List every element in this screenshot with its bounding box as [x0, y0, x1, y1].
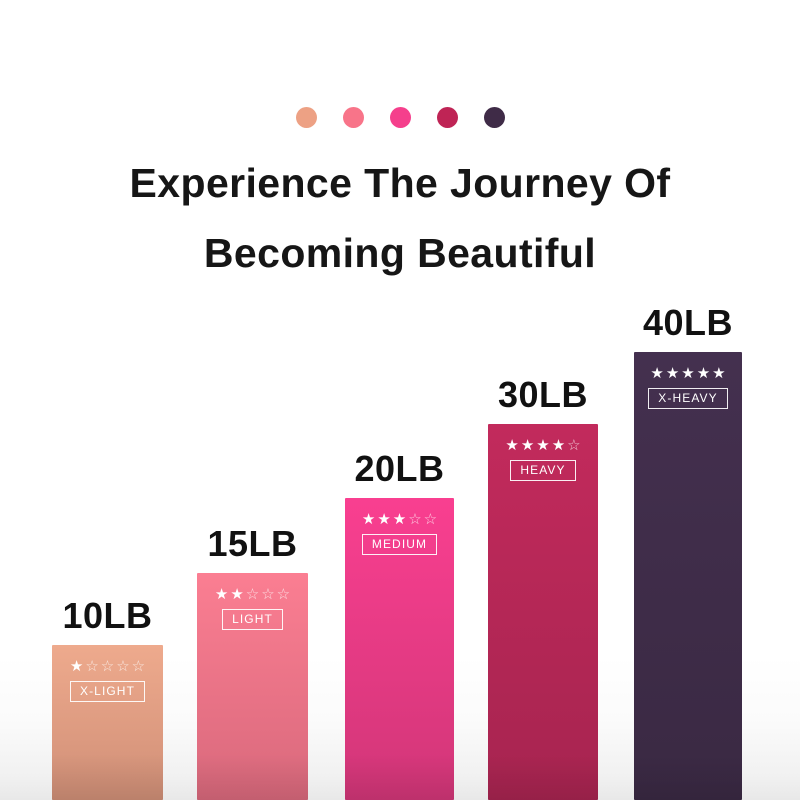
star-filled-icon: ★: [697, 366, 710, 381]
star-rating: ★★★★☆: [505, 438, 580, 453]
star-empty-icon: ☆: [277, 587, 290, 602]
tier-label: LIGHT: [222, 609, 283, 630]
star-empty-icon: ☆: [132, 659, 145, 674]
star-empty-icon: ☆: [408, 512, 421, 527]
bar-value-label: 15LB: [207, 523, 297, 565]
star-filled-icon: ★: [712, 366, 725, 381]
star-filled-icon: ★: [215, 587, 228, 602]
bar-group-medium: 20LB★★★☆☆MEDIUM: [345, 498, 454, 800]
product-infographic-poster: Experience The Journey Of Becoming Beaut…: [0, 0, 800, 800]
star-filled-icon: ★: [681, 366, 694, 381]
bar-light[interactable]: ★★☆☆☆LIGHT: [197, 573, 308, 800]
bar-x-light[interactable]: ★☆☆☆☆X-LIGHT: [52, 645, 163, 800]
star-empty-icon: ☆: [261, 587, 274, 602]
bar-badge: ★★★☆☆MEDIUM: [345, 512, 454, 555]
star-filled-icon: ★: [505, 438, 518, 453]
star-rating: ★★★★★: [650, 366, 725, 381]
bar-badge: ★★☆☆☆LIGHT: [197, 587, 308, 630]
star-empty-icon: ☆: [567, 438, 580, 453]
bar-value-label: 20LB: [354, 448, 444, 490]
star-filled-icon: ★: [650, 366, 663, 381]
bar-badge: ★★★★★X-HEAVY: [634, 366, 742, 409]
tier-label: MEDIUM: [362, 534, 437, 555]
star-filled-icon: ★: [666, 366, 679, 381]
bar-group-x-light: 10LB★☆☆☆☆X-LIGHT: [52, 645, 163, 800]
star-filled-icon: ★: [377, 512, 390, 527]
star-empty-icon: ☆: [116, 659, 129, 674]
star-empty-icon: ☆: [85, 659, 98, 674]
star-filled-icon: ★: [393, 512, 406, 527]
star-empty-icon: ☆: [101, 659, 114, 674]
bar-value-label: 40LB: [643, 302, 733, 344]
bar-value-label: 30LB: [498, 374, 588, 416]
bar-value-label: 10LB: [62, 595, 152, 637]
star-rating: ★★★☆☆: [362, 512, 437, 527]
star-filled-icon: ★: [230, 587, 243, 602]
tier-label: HEAVY: [510, 460, 575, 481]
bar-group-heavy: 30LB★★★★☆HEAVY: [488, 424, 598, 800]
star-filled-icon: ★: [536, 438, 549, 453]
bar-group-x-heavy: 40LB★★★★★X-HEAVY: [634, 352, 742, 800]
bar-x-heavy[interactable]: ★★★★★X-HEAVY: [634, 352, 742, 800]
tier-label: X-LIGHT: [70, 681, 145, 702]
star-filled-icon: ★: [362, 512, 375, 527]
tier-label: X-HEAVY: [648, 388, 728, 409]
star-rating: ★★☆☆☆: [215, 587, 290, 602]
bar-group-light: 15LB★★☆☆☆LIGHT: [197, 573, 308, 800]
star-filled-icon: ★: [70, 659, 83, 674]
star-rating: ★☆☆☆☆: [70, 659, 145, 674]
bar-heavy[interactable]: ★★★★☆HEAVY: [488, 424, 598, 800]
bar-medium[interactable]: ★★★☆☆MEDIUM: [345, 498, 454, 800]
bar-badge: ★☆☆☆☆X-LIGHT: [52, 659, 163, 702]
star-empty-icon: ☆: [246, 587, 259, 602]
star-filled-icon: ★: [521, 438, 534, 453]
resistance-bar-chart: 10LB★☆☆☆☆X-LIGHT15LB★★☆☆☆LIGHT20LB★★★☆☆M…: [0, 0, 800, 800]
bar-badge: ★★★★☆HEAVY: [488, 438, 598, 481]
star-empty-icon: ☆: [424, 512, 437, 527]
star-filled-icon: ★: [552, 438, 565, 453]
